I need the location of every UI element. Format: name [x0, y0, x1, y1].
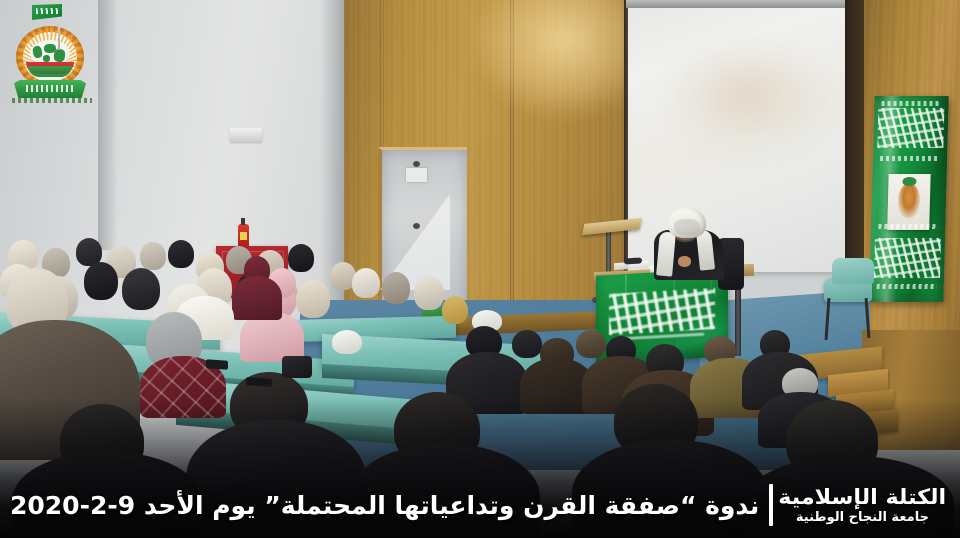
- seminar-photograph: الكتلة الإسلامية جامعة النجاح الوطنية ند…: [0, 0, 960, 538]
- emblem-subtitle-text: [12, 98, 92, 103]
- banner-small-text: [880, 156, 939, 161]
- fire-extinguisher-valve: [241, 218, 245, 225]
- bag-on-desk: [282, 356, 312, 378]
- audience-head: [382, 272, 410, 304]
- phone-on-desk: [246, 377, 272, 387]
- table-banner-calligraphy: [609, 288, 715, 334]
- organization-name: الكتلة الإسلامية: [778, 486, 946, 508]
- university-name: جامعة النجاح الوطنية: [796, 511, 929, 525]
- caption-organization-logo: الكتلة الإسلامية جامعة النجاح الوطنية: [783, 486, 941, 525]
- audience-head: [122, 268, 160, 310]
- speaker-keffiyeh: [668, 208, 706, 238]
- screen-housing: [626, 0, 868, 8]
- audience-head: [352, 268, 380, 298]
- emergency-light-fixture: [230, 128, 262, 142]
- green-wall-banner: [869, 96, 948, 302]
- audience-cap: [332, 330, 362, 354]
- audience-head: [442, 296, 468, 324]
- banner-small-text: [879, 224, 938, 229]
- caption-divider: [769, 484, 773, 526]
- audience-head: [84, 262, 118, 300]
- banner-emblem: [887, 174, 930, 230]
- caption-title: ندوة “صفقة القرن وتداعياتها المحتملة” يو…: [10, 491, 759, 520]
- stage-chair-back: [832, 258, 874, 284]
- wall-corner-shadow: [98, 0, 118, 250]
- speaker-hand: [678, 256, 691, 267]
- banner-small-text: [882, 101, 941, 106]
- seated-speaker: [652, 206, 726, 278]
- audience-head: [414, 276, 444, 310]
- door-sign: [406, 168, 427, 182]
- microphone: [624, 257, 642, 264]
- audience-shoulders: [232, 276, 282, 320]
- banner-calligraphy: [878, 108, 944, 148]
- banner-small-text: [877, 284, 936, 289]
- audience-head: [140, 242, 166, 270]
- door-knob-icon: [413, 223, 420, 229]
- audience-head: [288, 244, 314, 272]
- emblem-green-band: [28, 66, 72, 77]
- fire-extinguisher-label: [240, 232, 247, 240]
- audience-head: [296, 280, 330, 318]
- emblem-name-ribbon: [14, 80, 86, 98]
- audience-head: [576, 330, 606, 358]
- phone-on-desk: [206, 359, 228, 370]
- islamic-bloc-emblem: [8, 4, 100, 104]
- audience-head: [168, 240, 194, 268]
- door-knob-icon: [413, 161, 420, 167]
- audience-head: [512, 330, 542, 358]
- banner-calligraphy: [874, 238, 940, 278]
- caption-bar: الكتلة الإسلامية جامعة النجاح الوطنية ند…: [0, 476, 960, 538]
